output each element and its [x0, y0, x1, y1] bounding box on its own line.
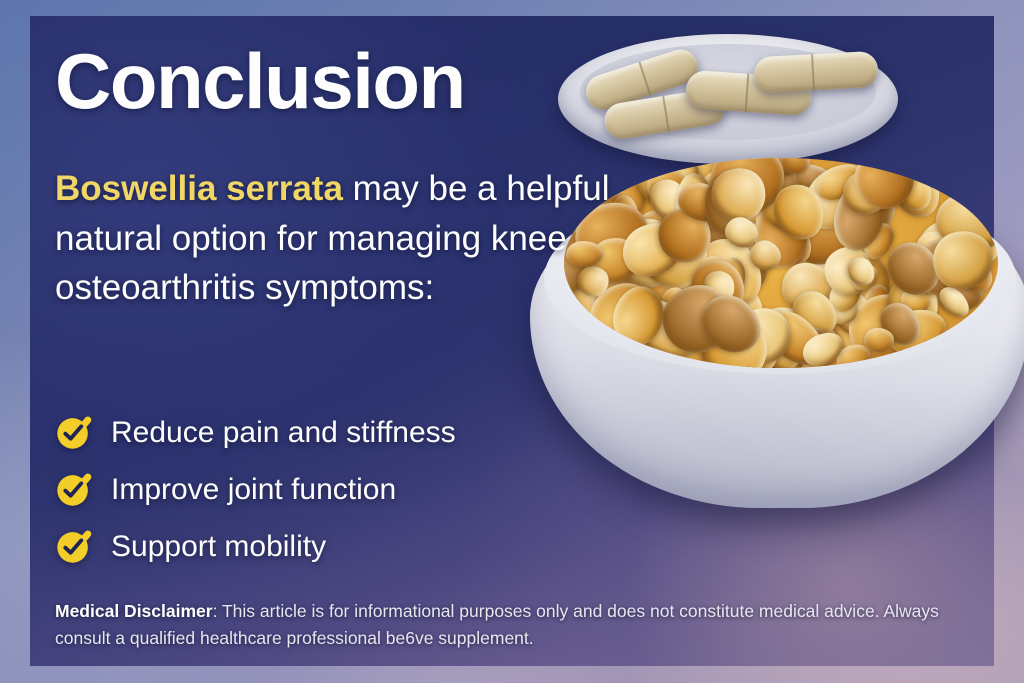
page-title: Conclusion [55, 42, 465, 120]
list-item: Reduce pain and stiffness [55, 404, 615, 461]
check-circle-icon [55, 471, 92, 508]
capsule [753, 51, 879, 93]
check-circle-icon [55, 528, 92, 565]
subtitle-emphasis: Boswellia serrata [55, 169, 343, 208]
infographic-card: Conclusion Boswellia serrata may be a he… [0, 0, 1024, 683]
benefits-list: Reduce pain and stiffnessImprove joint f… [55, 404, 615, 575]
text-column: Conclusion Boswellia serrata may be a he… [55, 0, 675, 683]
list-item-label: Improve joint function [111, 475, 396, 505]
list-item: Support mobility [55, 518, 615, 575]
check-circle-icon [55, 414, 92, 451]
medical-disclaimer: Medical Disclaimer: This article is for … [55, 598, 985, 653]
list-item: Improve joint function [55, 461, 615, 518]
disclaimer-label: Medical Disclaimer [55, 601, 213, 621]
list-item-label: Support mobility [111, 532, 326, 562]
list-item-label: Reduce pain and stiffness [111, 418, 456, 448]
subtitle: Boswellia serrata may be a helpful natur… [55, 164, 615, 313]
